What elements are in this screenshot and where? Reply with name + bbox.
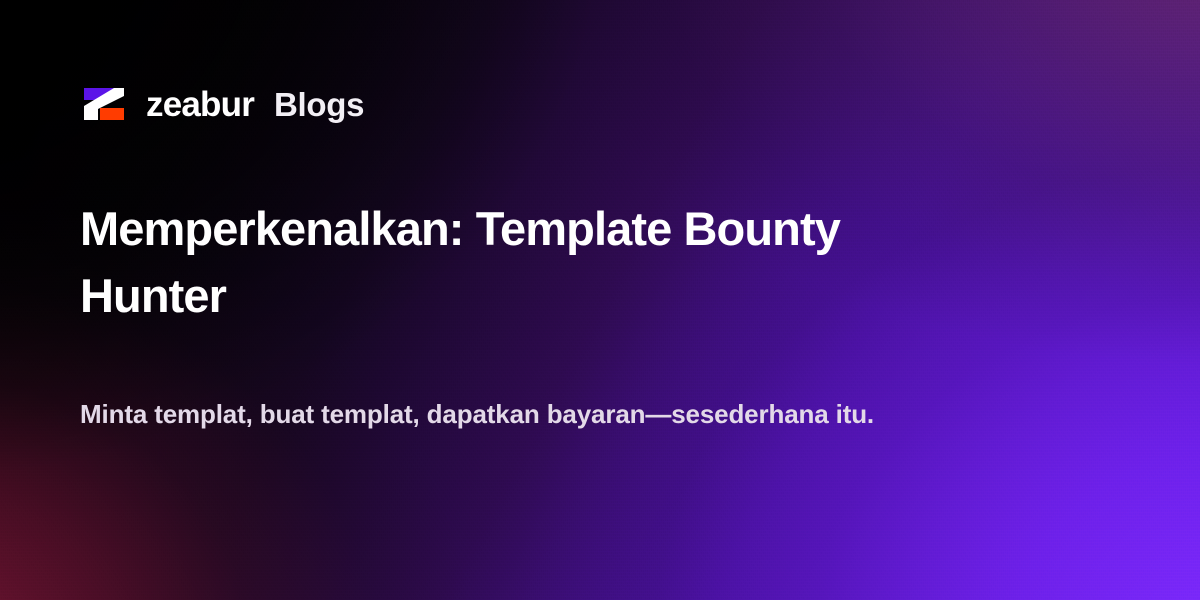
- banner-content: zeabur Blogs Memperkenalkan: Template Bo…: [0, 0, 1200, 600]
- zeabur-wordmark: zeabur: [146, 87, 254, 122]
- page-title: Memperkenalkan: Template Bounty Hunter: [80, 196, 960, 329]
- blogs-section-label: Blogs: [274, 88, 364, 121]
- blog-og-banner: zeabur Blogs Memperkenalkan: Template Bo…: [0, 0, 1200, 600]
- zeabur-z-logo-icon: [80, 84, 128, 124]
- brand-header[interactable]: zeabur Blogs: [80, 80, 364, 128]
- page-subtitle: Minta templat, buat templat, dapatkan ba…: [80, 392, 910, 437]
